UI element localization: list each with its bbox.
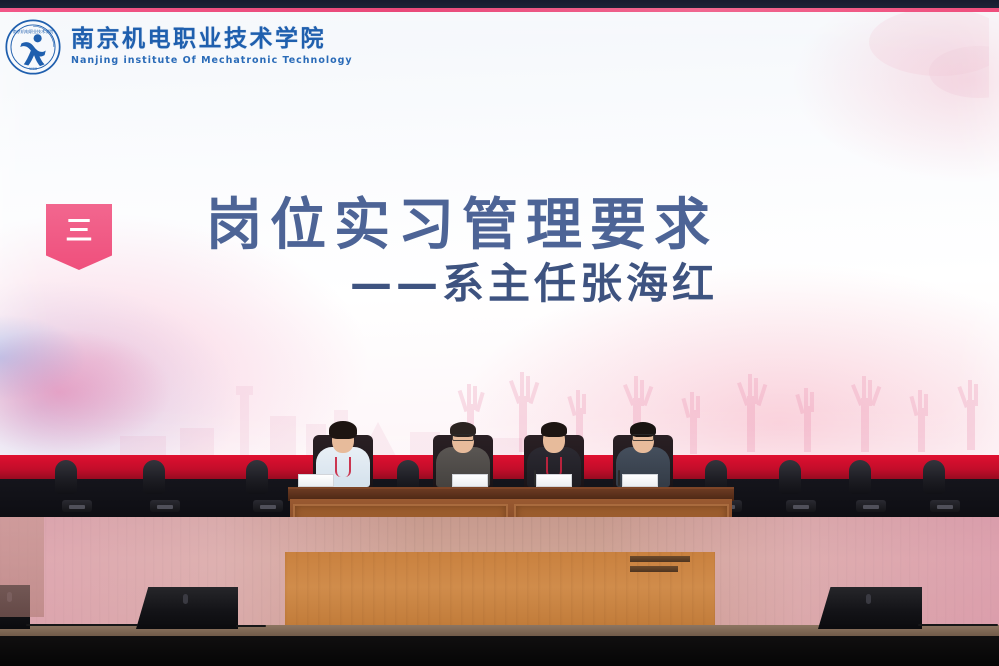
logo-name-en: Nanjing institute Of Mechatronic Technol… (71, 56, 353, 66)
glasses-icon (452, 434, 474, 441)
section-number-label: 三 (66, 218, 93, 245)
stage-monitor-left (136, 587, 238, 629)
svg-text:1958: 1958 (29, 67, 37, 71)
stage-side-wall-left (0, 517, 44, 617)
speaker-cable (918, 624, 998, 626)
stage-floor-center-wood (285, 552, 715, 630)
panelist-hair (329, 421, 357, 439)
screen-top-accent-line (0, 8, 999, 12)
stage-light-2 (150, 460, 180, 512)
microphone-icon (618, 470, 620, 486)
slide-subtitle: ——系主任张海红 (206, 261, 718, 307)
stage-step (630, 566, 678, 572)
stage-light-7 (856, 460, 886, 512)
conference-stage-photo: 南京机电职业技术学院 1958 南京机电职业技术学院 Nanjing insti… (0, 0, 999, 666)
name-card (452, 474, 488, 487)
slide-title-texts: 岗位实习管理要求 ——系主任张海红 (206, 196, 718, 308)
projection-screen: 南京机电职业技术学院 1958 南京机电职业技术学院 Nanjing insti… (0, 8, 999, 460)
stage-light-8 (930, 460, 960, 512)
logo-name-cn: 南京机电职业技术学院 (71, 28, 353, 51)
speaker-cable (26, 624, 138, 626)
name-card (622, 474, 658, 487)
slide-title: 岗位实习管理要求 (206, 196, 718, 255)
orchestra-pit-shadow (0, 636, 999, 666)
panelist-hair (541, 422, 567, 437)
stage-light-3 (253, 460, 283, 512)
screen-top-frame (0, 0, 999, 8)
speaker-cable (236, 625, 266, 627)
university-emblem-icon: 南京机电职业技术学院 1958 (4, 18, 62, 76)
glasses-icon (632, 434, 654, 441)
stage-light-6 (786, 460, 816, 512)
section-number-badge: 三 (46, 204, 112, 270)
slide-background-accent-topright (789, 12, 989, 102)
stage-light-1 (62, 460, 92, 512)
stage-step (630, 556, 690, 562)
name-card (536, 474, 572, 487)
panelist-lanyard (335, 457, 351, 477)
stage-monitor-right (818, 587, 922, 629)
name-card (298, 474, 334, 487)
slide-title-row: 三 岗位实习管理要求 ——系主任张海红 (46, 204, 718, 308)
slide-background-blob-left (0, 290, 290, 460)
university-logo-lockup: 南京机电职业技术学院 1958 南京机电职业技术学院 Nanjing insti… (4, 18, 353, 76)
microphone-icon (534, 470, 536, 486)
svg-text:南京机电职业技术学院: 南京机电职业技术学院 (13, 28, 53, 34)
